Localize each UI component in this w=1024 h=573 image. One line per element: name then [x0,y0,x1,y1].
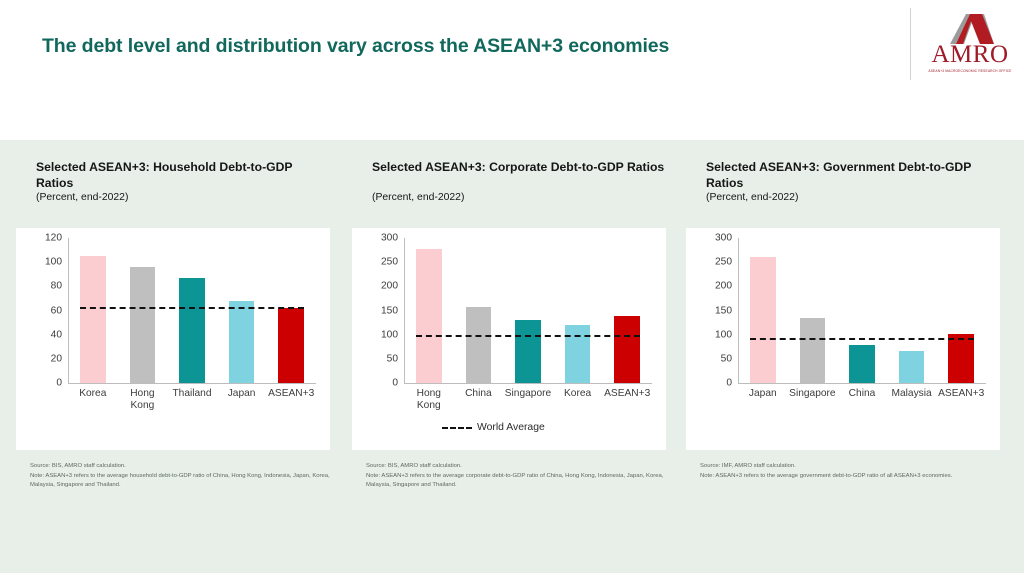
bar [416,249,442,383]
footnote-note: Note: ASEAN+3 refers to the average hous… [30,472,330,491]
x-axis-line [738,383,986,384]
footnote-source: Source: IMF, AMRO staff calculation. [700,462,1000,472]
amro-wordmark: AMRO [922,42,1018,67]
panel-title: Selected ASEAN+3: Corporate Debt-to-GDP … [372,159,668,175]
average-reference-line [416,335,639,337]
panel-footnote: Source: IMF, AMRO staff calculation. Not… [700,462,1000,481]
panel-subtitle: (Percent, end-2022) [706,192,1002,203]
x-axis-label: HongKong [118,388,168,412]
y-axis-tick: 100 [698,329,732,340]
bar [179,278,205,383]
chart-panel-household: Selected ASEAN+3: Household Debt-to-GDP … [8,140,338,573]
x-axis-label: Japan [738,388,788,400]
x-axis-label: China [454,388,504,400]
y-axis-tick: 300 [364,233,398,244]
bar [466,307,492,383]
y-axis-tick: 200 [364,281,398,292]
slide-header: The debt level and distribution vary acr… [0,0,1024,140]
bar [849,345,875,383]
y-axis-tick: 80 [28,281,62,292]
panel-subtitle: (Percent, end-2022) [36,192,332,203]
amro-logo-mark [950,14,994,44]
bar [800,318,826,383]
y-axis-tick: 0 [364,378,398,389]
y-axis-tick: 100 [28,257,62,268]
panel-footnote: Source: BIS, AMRO staff calculation. Not… [366,462,666,491]
chart-card: 050100150200250300JapanSingaporeChinaMal… [686,228,1000,450]
y-axis-tick: 50 [364,353,398,364]
bar [515,320,541,383]
amro-tagline: ASEAN+3 MACROECONOMIC RESEARCH OFFICE [920,69,1021,73]
average-reference-line [80,307,303,309]
x-axis-label: Japan [217,388,267,400]
y-axis-tick: 60 [28,305,62,316]
bar-chart-corporate: 050100150200250300HongKongChinaSingapore… [352,228,666,450]
x-axis-label: Singapore [788,388,838,400]
chart-panel-government: Selected ASEAN+3: Government Debt-to-GDP… [678,140,1008,573]
chart-panel-corporate: Selected ASEAN+3: Corporate Debt-to-GDP … [344,140,674,573]
y-axis-tick: 200 [698,281,732,292]
bar [750,257,776,383]
bar [80,256,106,383]
x-axis-label: Thailand [167,388,217,400]
x-axis-label: Korea [553,388,603,400]
x-axis-label: ASEAN+3 [602,388,652,400]
bar [899,351,925,383]
x-axis-line [68,383,316,384]
chart-card: 020406080100120KoreaHongKongThailandJapa… [16,228,330,450]
y-axis-tick: 250 [698,257,732,268]
x-axis-label: China [837,388,887,400]
x-axis-label: HongKong [404,388,454,412]
page-title: The debt level and distribution vary acr… [42,35,669,58]
legend-label: World Average [477,422,545,433]
legend-dash-icon [442,427,472,429]
bar [948,334,974,383]
amro-logo: AMRO ASEAN+3 MACROECONOMIC RESEARCH OFFI… [922,12,1018,78]
y-axis-tick: 150 [698,305,732,316]
average-reference-line [750,338,973,340]
chart-legend: World Average [442,422,545,433]
y-axis-line [68,238,69,383]
y-axis-tick: 20 [28,353,62,364]
bar [278,308,304,383]
bar [229,301,255,383]
panel-subtitle: (Percent, end-2022) [372,192,668,203]
chart-card: 050100150200250300HongKongChinaSingapore… [352,228,666,450]
footnote-source: Source: BIS, AMRO staff calculation. [30,462,330,472]
footnote-source: Source: BIS, AMRO staff calculation. [366,462,666,472]
x-axis-label: Malaysia [887,388,937,400]
y-axis-tick: 120 [28,233,62,244]
y-axis-tick: 0 [698,378,732,389]
y-axis-tick: 300 [698,233,732,244]
bar-chart-household: 020406080100120KoreaHongKongThailandJapa… [16,228,330,450]
header-divider [910,8,911,80]
y-axis-tick: 50 [698,353,732,364]
y-axis-tick: 100 [364,329,398,340]
x-axis-label: ASEAN+3 [936,388,986,400]
panel-title: Selected ASEAN+3: Government Debt-to-GDP… [706,159,1002,191]
y-axis-tick: 40 [28,329,62,340]
x-axis-label: ASEAN+3 [266,388,316,400]
x-axis-label: Korea [68,388,118,400]
panel-title: Selected ASEAN+3: Household Debt-to-GDP … [36,159,332,191]
bar [614,316,640,383]
x-axis-label: Singapore [503,388,553,400]
y-axis-line [738,238,739,383]
content-band: Selected ASEAN+3: Household Debt-to-GDP … [0,140,1024,573]
y-axis-tick: 0 [28,378,62,389]
bar-chart-government: 050100150200250300JapanSingaporeChinaMal… [686,228,1000,450]
panel-footnote: Source: BIS, AMRO staff calculation. Not… [30,462,330,491]
y-axis-tick: 250 [364,257,398,268]
footnote-note: Note: ASEAN+3 refers to the average gove… [700,472,1000,482]
bar [130,267,156,383]
y-axis-tick: 150 [364,305,398,316]
footnote-note: Note: ASEAN+3 refers to the average corp… [366,472,666,491]
x-axis-line [404,383,652,384]
y-axis-line [404,238,405,383]
